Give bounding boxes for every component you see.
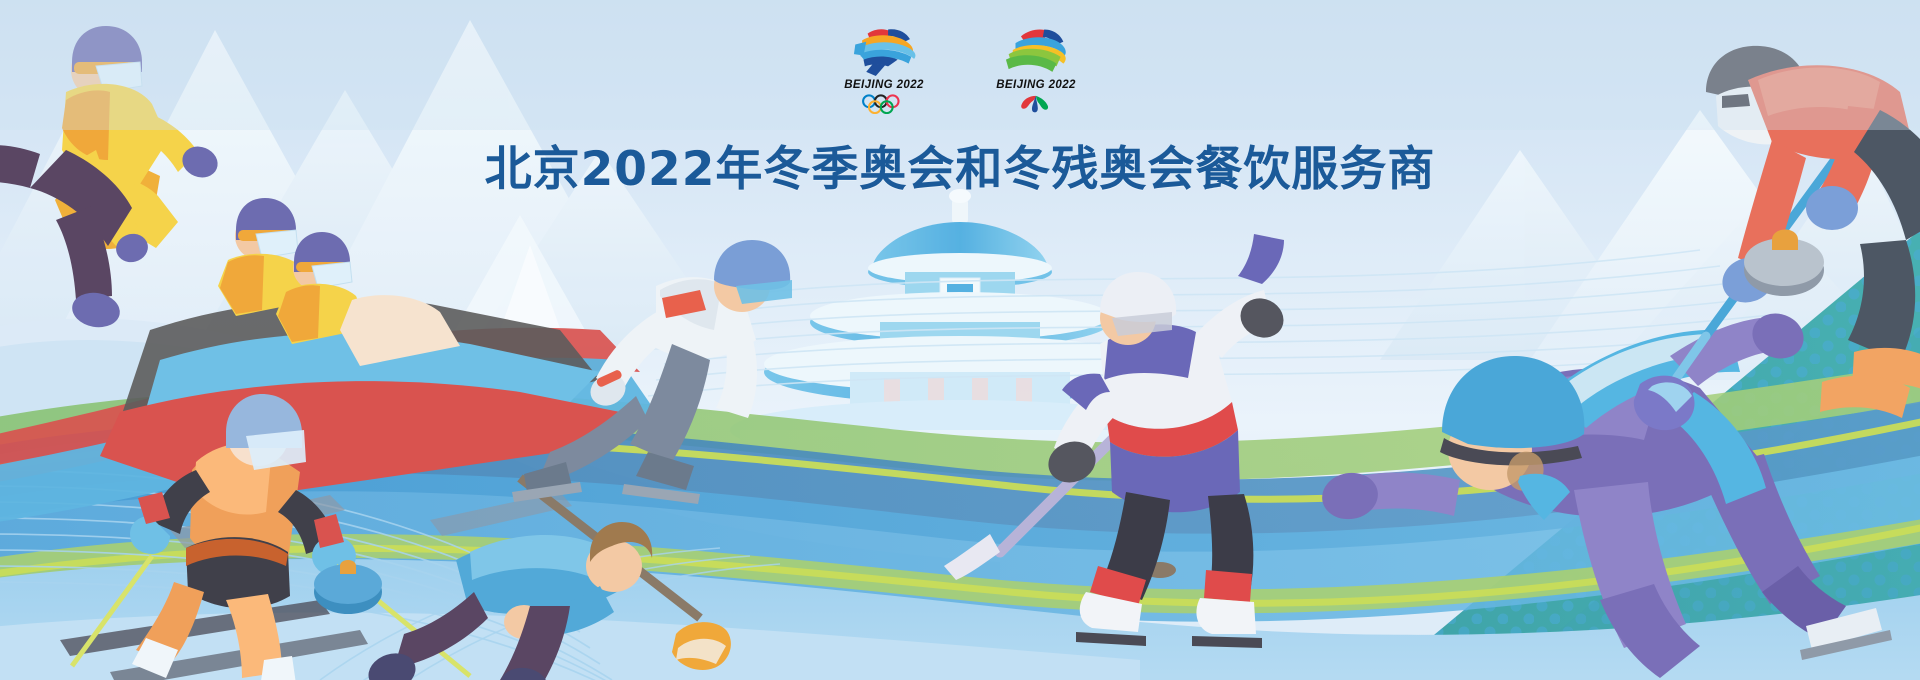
winter-sports-illustration <box>0 0 1920 680</box>
olympics-catering-banner: BEIJING 2022 <box>0 0 1920 680</box>
